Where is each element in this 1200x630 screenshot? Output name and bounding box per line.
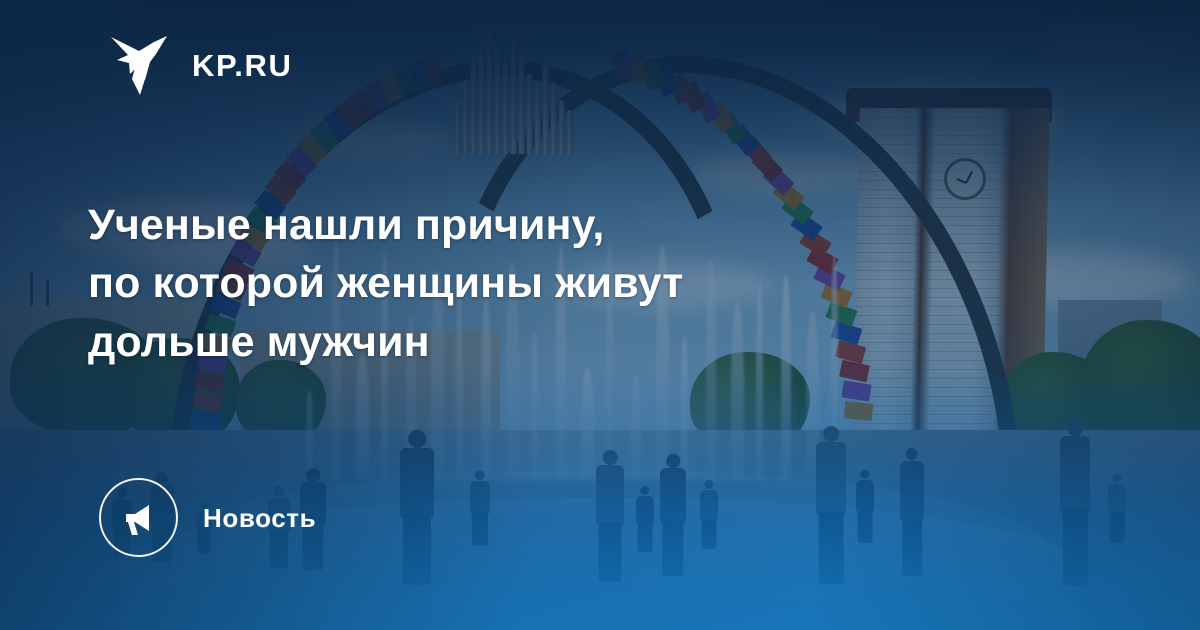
badge-label: Новость [203,505,316,531]
badge-icon-circle [99,478,178,557]
megaphone-icon [118,497,160,539]
social-share-card: KP.RU Ученые нашли причину, по которой ж… [0,0,1200,630]
brand-logo[interactable]: KP.RU [109,34,292,96]
brand-name: KP.RU [192,50,292,81]
swallow-bird-icon [109,34,173,96]
page-title: Ученые нашли причину, по которой женщины… [88,196,968,371]
card-content: KP.RU Ученые нашли причину, по которой ж… [0,0,1200,630]
status-badge[interactable]: Новость [99,478,316,557]
